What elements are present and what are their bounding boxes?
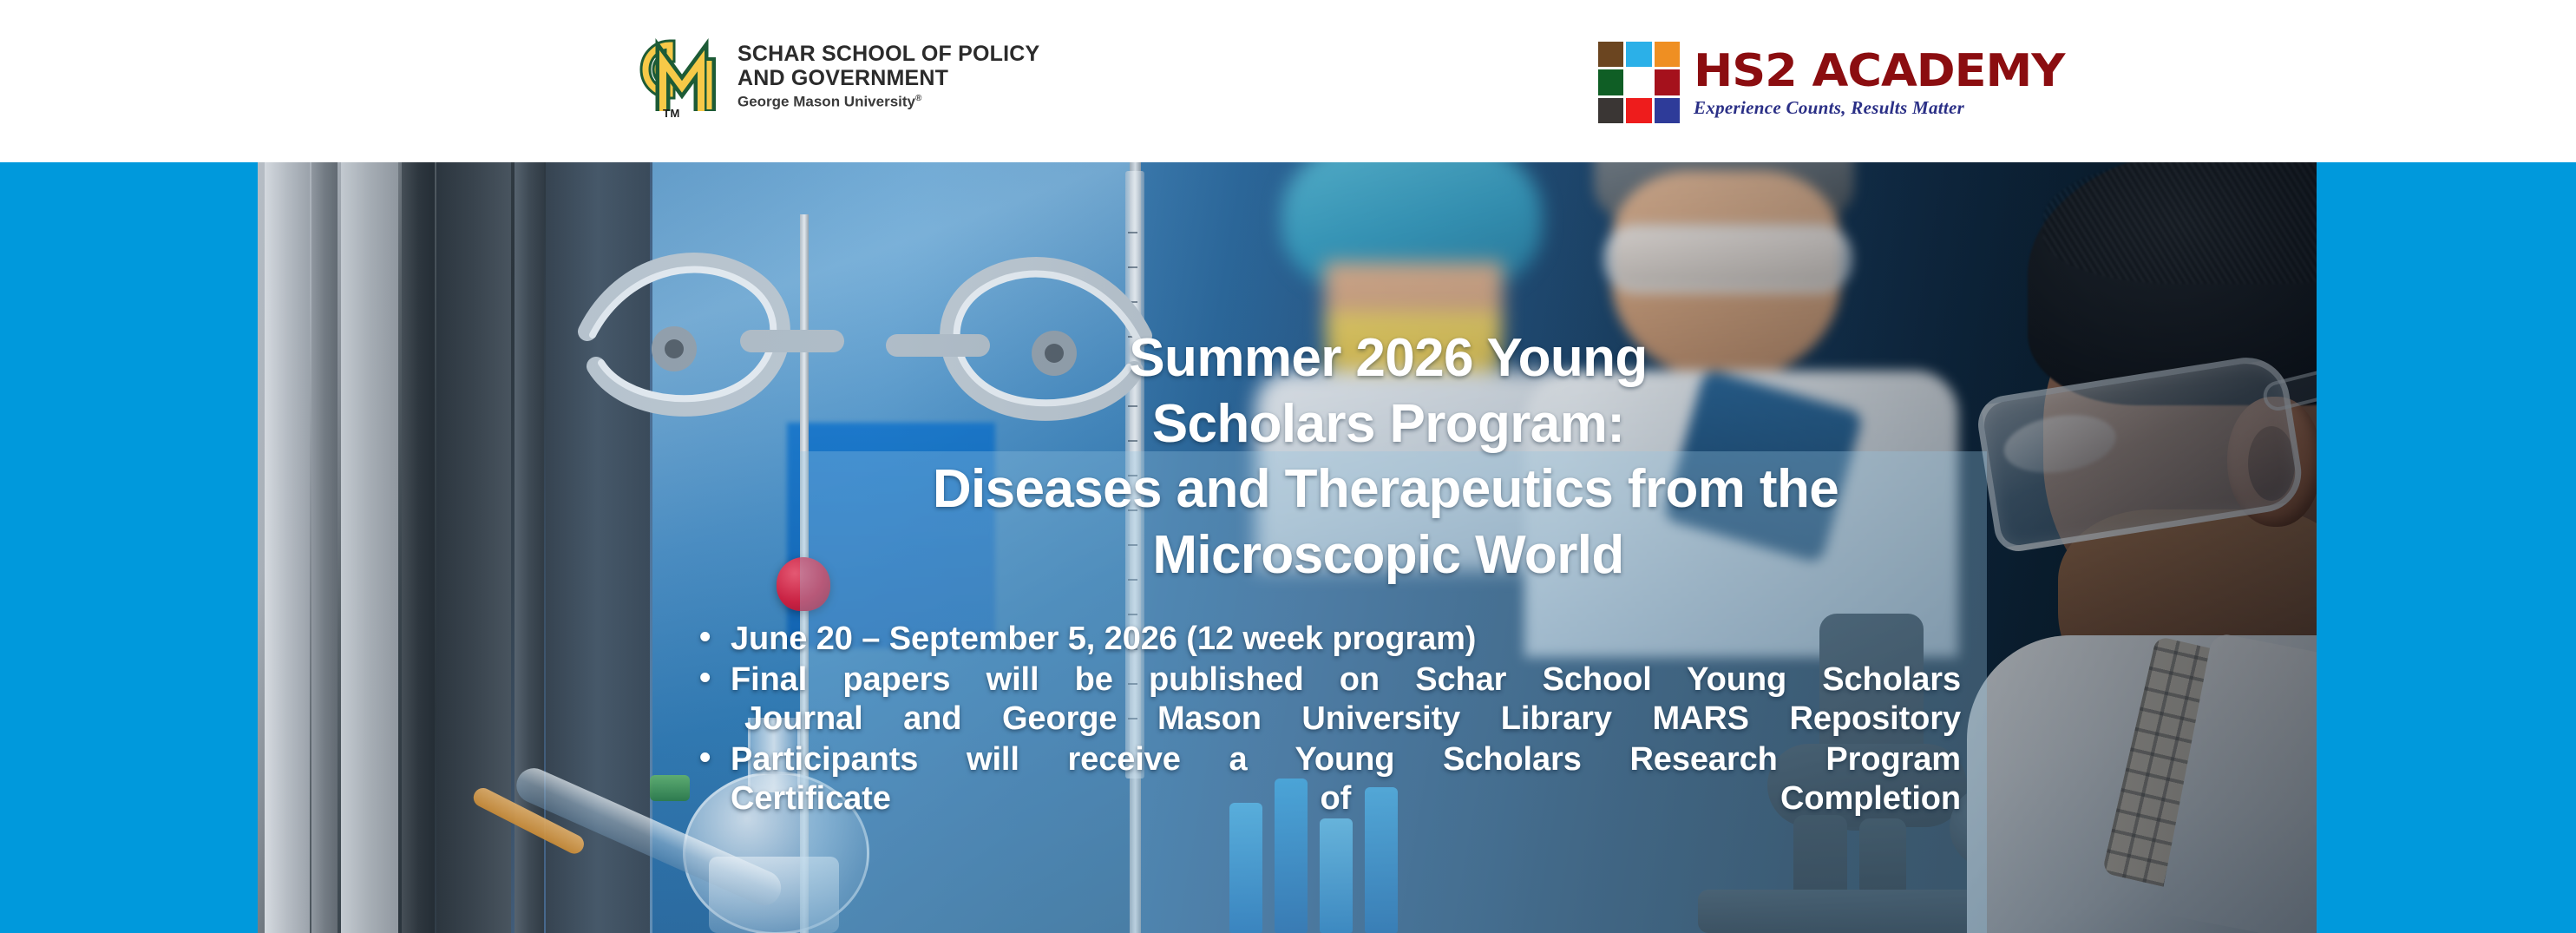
- hs2-wordmark: HS2 ACADEMY Experience Counts, Results M…: [1694, 47, 2050, 119]
- bullet-2-line-1: Final papers will be published on Schar …: [731, 661, 1961, 698]
- cabinet-edge: [311, 162, 338, 933]
- headline-line-1: Summer 2026 Young: [1129, 328, 1647, 388]
- bullet-3-line-2: Certificate of Completion: [731, 779, 1961, 818]
- university-name-text: George Mason University: [737, 94, 915, 110]
- hs2-title: HS2 ACADEMY: [1694, 49, 2064, 94]
- registered-symbol: ®: [915, 94, 921, 103]
- schar-school-logo[interactable]: TM SCHAR SCHOOL OF POLICY AND GOVERNMENT…: [632, 28, 1048, 125]
- cabinet-edge: [341, 162, 398, 933]
- list-item: Final papers will be published on Schar …: [694, 660, 1961, 739]
- bullet-3-line-1: Participants will receive a Young Schola…: [731, 741, 1961, 778]
- program-details-list: June 20 – September 5, 2026 (12 week pro…: [694, 620, 1961, 819]
- gm-monogram-icon: TM: [632, 31, 722, 122]
- headline-line-3: Diseases and Therapeutics from the: [692, 457, 2080, 522]
- headline-line-2: Scholars Program:: [1152, 394, 1625, 454]
- trademark-symbol: TM: [663, 107, 680, 120]
- bullet-1-text: June 20 – September 5, 2026 (12 week pro…: [731, 621, 1476, 657]
- hero-banner: Summer 2026 Young Scholars Program: Dise…: [0, 162, 2576, 933]
- schar-school-wordmark: SCHAR SCHOOL OF POLICY AND GOVERNMENT Ge…: [737, 42, 1039, 110]
- list-item: Participants will receive a Young Schola…: [694, 740, 1961, 818]
- cabinet-edge: [402, 162, 435, 933]
- bullet-2-line-2: Journal and George Mason University Libr…: [731, 700, 1961, 739]
- hs2-tagline: Experience Counts, Results Matter: [1694, 97, 2050, 119]
- poster-page: TM SCHAR SCHOOL OF POLICY AND GOVERNMENT…: [0, 0, 2576, 933]
- headline-line-4: Microscopic World: [1152, 525, 1623, 585]
- header-bar: TM SCHAR SCHOOL OF POLICY AND GOVERNMENT…: [0, 0, 2576, 162]
- schar-line-2: AND GOVERNMENT: [737, 66, 1039, 90]
- hs2-academy-logo[interactable]: HS2 ACADEMY Experience Counts, Results M…: [1596, 36, 2065, 128]
- page-title: Summer 2026 Young Scholars Program: Dise…: [768, 325, 2009, 588]
- color-squares-icon: [1596, 40, 1681, 125]
- cabinet-edge: [265, 162, 310, 933]
- cabinet-edge: [436, 162, 511, 933]
- hero-copy: Summer 2026 Young Scholars Program: Dise…: [590, 325, 2360, 933]
- schar-university-name: George Mason University®: [737, 94, 1039, 110]
- schar-line-1: SCHAR SCHOOL OF POLICY: [737, 42, 1039, 66]
- list-item: June 20 – September 5, 2026 (12 week pro…: [694, 620, 1961, 659]
